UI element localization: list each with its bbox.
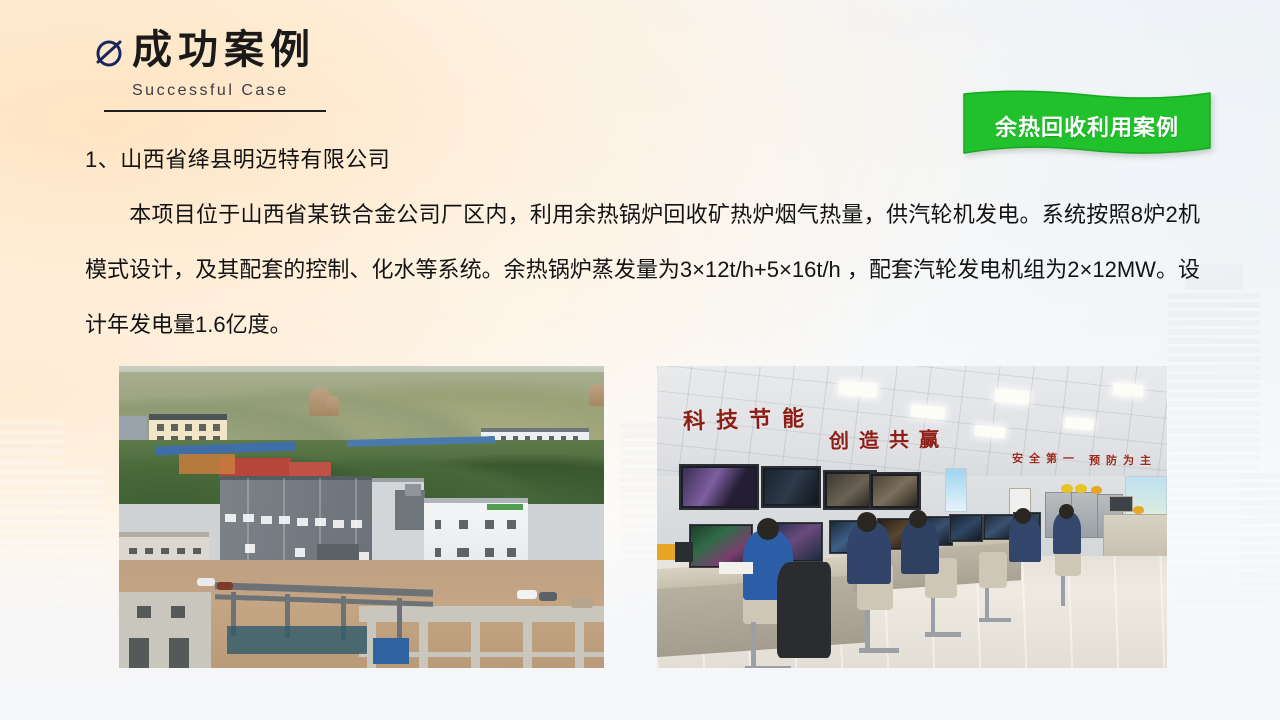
- body-paragraph-text: 本项目位于山西省某铁合金公司厂区内，利用余热锅炉回收矿热炉烟气热量，供汽轮机发电…: [85, 202, 1200, 337]
- item-heading: 1、山西省绛县明迈特有限公司: [85, 143, 1200, 177]
- page-title: 成功案例: [132, 30, 316, 70]
- slide-root: 成功案例 Successful Case 余热回收利用案例 1、山西省绛县明迈特…: [0, 0, 1280, 720]
- wall-slogan-4: 预防为主: [1089, 452, 1157, 468]
- slashed-circle-icon: [92, 35, 126, 69]
- wall-slogan-1: 科技节能: [683, 400, 816, 435]
- plant-aerial-photo: [119, 366, 604, 668]
- page-subtitle: Successful Case: [132, 82, 326, 100]
- title-underline: [104, 110, 326, 112]
- slide-header: 成功案例 Successful Case: [92, 30, 326, 112]
- body-content: 1、山西省绛县明迈特有限公司 本项目位于山西省某铁合金公司厂区内，利用余热锅炉回…: [85, 143, 1200, 352]
- wall-slogan-2: 创造共赢: [829, 423, 949, 454]
- control-room-photo: 科技节能 创造共赢 安全第一 预防为主: [657, 366, 1167, 668]
- wall-slogan-3: 安全第一: [1012, 450, 1080, 466]
- body-paragraph: 本项目位于山西省某铁合金公司厂区内，利用余热锅炉回收矿热炉烟气热量，供汽轮机发电…: [85, 187, 1200, 352]
